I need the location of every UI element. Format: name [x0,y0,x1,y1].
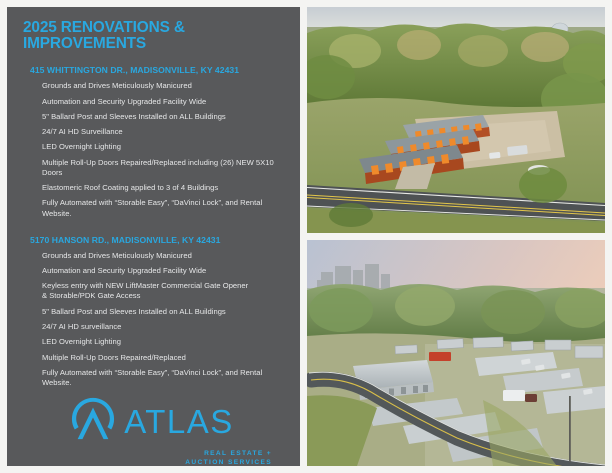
list-item: LED Overnight Lighting [42,337,286,347]
info-panel: 2025 RENOVATIONS & IMPROVEMENTS 415 WHIT… [7,7,300,466]
section-hanson: 5170 HANSON RD., MADISONVILLE, KY 42431 … [21,235,286,393]
aerial-photo-whittington-dr [307,7,605,233]
list-item: 24/7 AI HD Surveillance [42,127,286,137]
list-item: Fully Automated with “Storable Easy”, “D… [42,368,286,388]
flyer-page: 2025 RENOVATIONS & IMPROVEMENTS 415 WHIT… [0,0,612,473]
photo-column [307,7,605,466]
aerial-photo-hanson-rd [307,240,605,466]
list-item: Elastomeric Roof Coating applied to 3 of… [42,183,286,193]
list-item: 24/7 AI HD surveillance [42,322,286,332]
bullet-list-whittington: Grounds and Drives Meticulously Manicure… [21,81,286,218]
list-item: Fully Automated with “Storable Easy”, “D… [42,198,286,218]
list-item: Grounds and Drives Meticulously Manicure… [42,81,286,91]
logo-tagline-line2: AUCTION SERVICES [185,459,272,466]
atlas-circle-a-icon [69,395,117,448]
section-whittington: 415 WHITTINGTON DR., MADISONVILLE, KY 42… [21,65,286,223]
list-item: Multiple Roll-Up Doors Repaired/Replaced… [42,158,286,178]
list-item: LED Overnight Lighting [42,142,286,152]
atlas-logo: ATLAS REAL ESTATE + AUCTION SERVICES [21,395,286,466]
logo-tagline-line1: REAL ESTATE + [185,450,272,459]
section-address-whittington: 415 WHITTINGTON DR., MADISONVILLE, KY 42… [21,65,286,75]
logo-tagline: REAL ESTATE + AUCTION SERVICES [185,450,282,466]
logo-wordmark: ATLAS [124,405,234,438]
list-item: Keyless entry with NEW LiftMaster Commer… [42,281,286,301]
list-item: 5" Ballard Post and Sleeves Installed on… [42,307,286,317]
list-item: Grounds and Drives Meticulously Manicure… [42,251,286,261]
bullet-list-hanson: Grounds and Drives Meticulously Manicure… [21,251,286,388]
logo-row: ATLAS [69,395,234,448]
page-title: 2025 RENOVATIONS & IMPROVEMENTS [21,20,286,52]
section-address-hanson: 5170 HANSON RD., MADISONVILLE, KY 42431 [21,235,286,245]
list-item: Automation and Security Upgraded Facilit… [42,97,286,107]
list-item: Multiple Roll-Up Doors Repaired/Replaced [42,353,286,363]
list-item: 5" Ballard Post and Sleeves Installed on… [42,112,286,122]
list-item: Automation and Security Upgraded Facilit… [42,266,286,276]
